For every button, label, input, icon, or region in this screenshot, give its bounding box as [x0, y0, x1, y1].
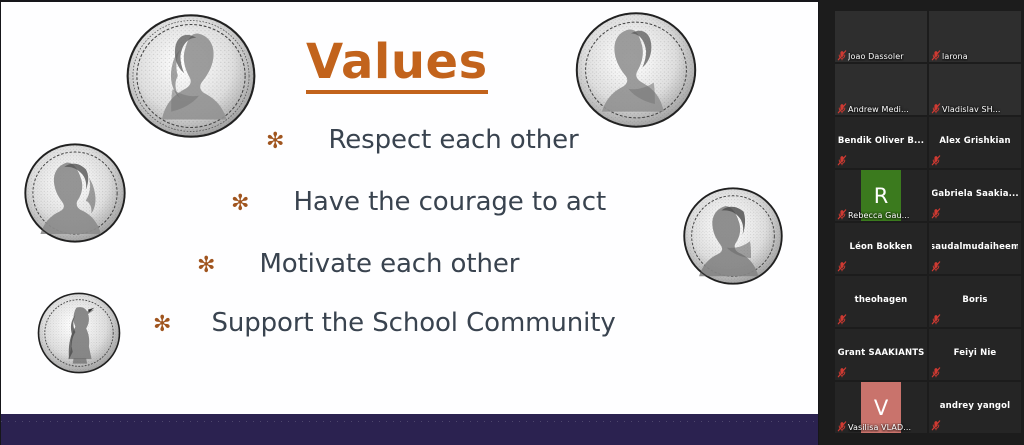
participant-tile[interactable]: Vladislav SH... — [929, 64, 1021, 115]
mic-muted-icon — [837, 103, 847, 114]
mic-muted-icon — [931, 261, 941, 272]
coin-emperor-right — [677, 183, 789, 289]
participant-name: theohagen — [838, 276, 924, 327]
presentation-slide[interactable]: Values ✻ Respect each other ✻ Have the c… — [1, 2, 818, 414]
participant-tile[interactable]: Joao Dassoler — [835, 11, 927, 62]
coin-empress-top-right — [567, 7, 705, 133]
mic-muted-icon — [837, 314, 847, 325]
participant-tile[interactable]: Feiyi Nie — [929, 329, 1021, 380]
participant-tile[interactable]: VVasilisa VLAD... — [835, 382, 927, 433]
participant-grid: Joao DassolerlaronaAndrew Medi...Vladisl… — [835, 11, 1024, 435]
screen-share-area[interactable]: Values ✻ Respect each other ✻ Have the c… — [0, 0, 819, 445]
mic-muted-icon — [931, 50, 941, 61]
bullet-label-1: Have the courage to act — [293, 187, 606, 217]
mic-muted-icon — [837, 209, 847, 220]
participant-tile[interactable]: Léon Bokken — [835, 223, 927, 274]
participant-name: Vladislav SH... — [942, 105, 1001, 114]
mic-muted-icon — [837, 155, 847, 166]
bullet-label-3: Support the School Community — [211, 308, 615, 338]
participant-tile[interactable]: andrey yangol — [929, 382, 1021, 433]
slide-footer-dotted-rule — [1, 421, 818, 422]
participant-tile[interactable]: Bendik Oliver B... — [835, 117, 927, 168]
bullet-label-2: Motivate each other — [259, 249, 519, 279]
bullet-marker-icon: ✻ — [153, 314, 171, 336]
participant-name: Boris — [932, 276, 1018, 327]
zoom-meeting-window: Values ✻ Respect each other ✻ Have the c… — [0, 0, 1024, 445]
participant-tile[interactable]: Gabriela Saakia... — [929, 170, 1021, 221]
participant-tile[interactable]: theohagen — [835, 276, 927, 327]
mic-muted-icon — [931, 208, 941, 219]
mic-muted-icon — [837, 50, 847, 61]
participant-tile[interactable]: Alex Grishkian — [929, 117, 1021, 168]
mic-muted-icon — [931, 367, 941, 378]
slide-title-underline — [306, 90, 488, 94]
participant-name: saudalmudaiheem — [932, 223, 1018, 274]
participant-tile[interactable]: Grant SAAKIANTS — [835, 329, 927, 380]
participant-filmstrip[interactable]: Joao DassolerlaronaAndrew Medi...Vladisl… — [819, 0, 1024, 445]
coin-emperor-left — [18, 139, 132, 247]
slide-title-text: Values — [306, 34, 488, 90]
mic-muted-icon — [931, 420, 941, 431]
participant-name: andrey yangol — [932, 382, 1018, 433]
bullet-item-3: ✻ Support the School Community — [153, 308, 616, 338]
bullet-item-1: ✻ Have the courage to act — [231, 187, 606, 217]
mic-muted-icon — [837, 261, 847, 272]
participant-name: Léon Bokken — [838, 223, 924, 274]
slide-title: Values — [306, 38, 488, 94]
avatar-initial: V — [874, 396, 888, 420]
mic-muted-icon — [931, 103, 941, 114]
bullet-item-0: ✻ Respect each other — [266, 125, 579, 155]
mic-muted-icon — [931, 155, 941, 166]
participant-name: Alex Grishkian — [932, 117, 1018, 168]
bullet-label-0: Respect each other — [328, 125, 578, 155]
bullet-item-2: ✻ Motivate each other — [197, 249, 519, 279]
participant-name: Grant SAAKIANTS — [838, 329, 924, 380]
bullet-marker-icon: ✻ — [231, 193, 249, 215]
slide-footer-bar — [1, 414, 818, 445]
bullet-marker-icon: ✻ — [197, 255, 215, 277]
participant-tile[interactable]: larona — [929, 11, 1021, 62]
participant-name: Bendik Oliver B... — [838, 117, 924, 168]
participant-name: Rebecca Gau... — [848, 211, 910, 220]
bullet-marker-icon: ✻ — [266, 131, 284, 153]
participant-tile[interactable]: Boris — [929, 276, 1021, 327]
mic-muted-icon — [931, 314, 941, 325]
participant-name: Gabriela Saakia... — [932, 170, 1018, 221]
participant-tile[interactable]: saudalmudaiheem — [929, 223, 1021, 274]
mic-muted-icon — [837, 421, 847, 432]
participant-name: Vasilisa VLAD... — [848, 423, 911, 432]
participant-tile[interactable]: RRebecca Gau... — [835, 170, 927, 221]
participant-name: Andrew Medi... — [848, 105, 909, 114]
participant-name: Joao Dassoler — [848, 52, 904, 61]
mic-muted-icon — [837, 367, 847, 378]
avatar-initial: R — [874, 184, 889, 208]
coin-eagle-bottom-left — [32, 288, 126, 378]
participant-tile[interactable]: Andrew Medi... — [835, 64, 927, 115]
coin-empress-top-left — [117, 10, 265, 142]
participant-name: Feiyi Nie — [932, 329, 1018, 380]
participant-name: larona — [942, 52, 968, 61]
